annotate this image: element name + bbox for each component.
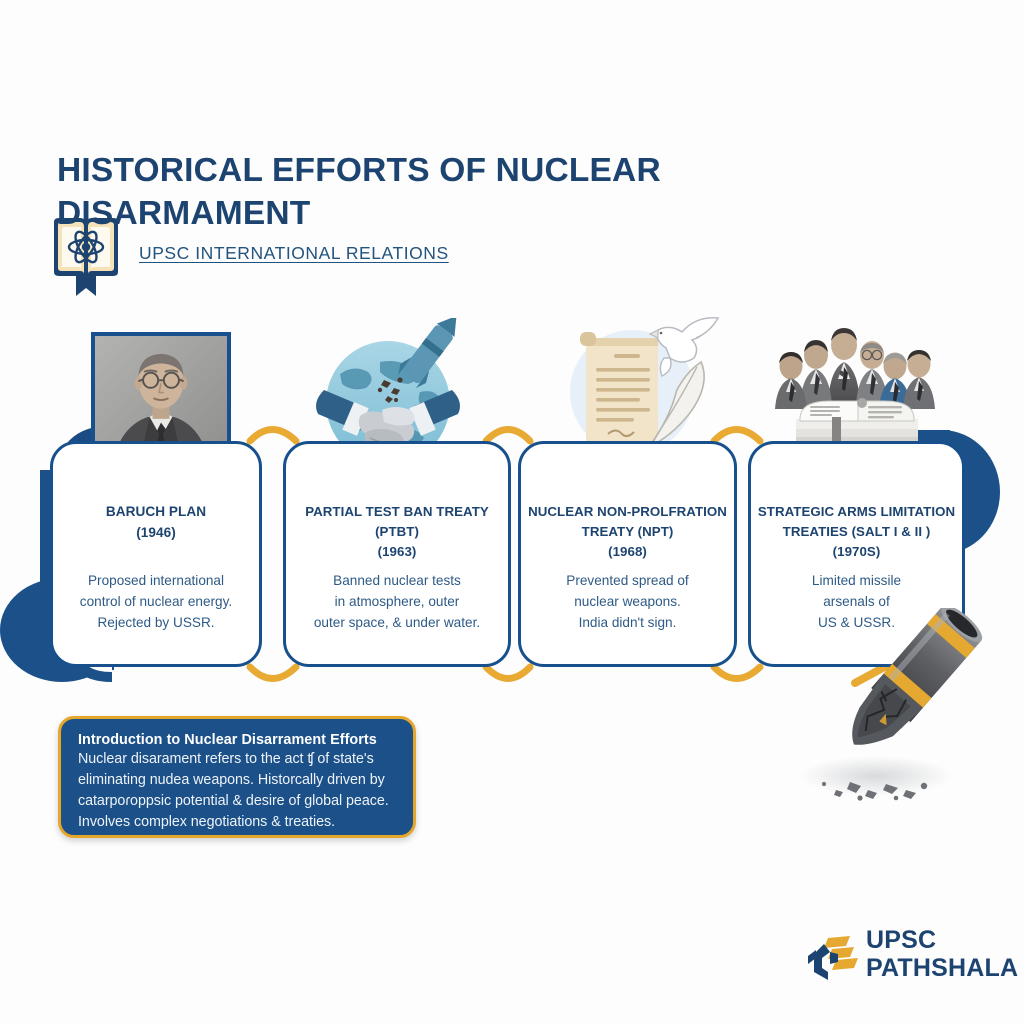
card-description: Banned nuclear tests in atmosphere, oute…	[280, 571, 514, 634]
card-title: PARTIAL TEST BAN TREATY (PTBT) (1963)	[272, 502, 522, 563]
card-title: STRATEGIC ARMS LIMITATION TREATIES (SALT…	[737, 502, 976, 563]
infographic-canvas: HISTORICAL EFFORTS OF NUCLEAR DISARMAMEN…	[0, 0, 1024, 1024]
timeline-card-nuclear-non-proliferation-treaty[interactable]: NUCLEAR NON-PROLFRATION TREATY (NPT) (19…	[518, 441, 737, 667]
card-title: NUCLEAR NON-PROLFRATION TREATY (NPT) (19…	[507, 502, 748, 563]
card-description: Proposed international control of nuclea…	[57, 571, 255, 634]
introduction-info-box: Introduction to Nuclear Disarrament Effo…	[58, 716, 416, 838]
broken-missile-tip-icon	[790, 608, 1020, 818]
info-box-body: Nuclear disarament refers to the act ʧ o…	[78, 749, 397, 832]
card-description: Prevented spread of nuclear weapons. Ind…	[525, 571, 730, 634]
logo-wordmark: UPSC PATHSHALA	[866, 926, 1018, 982]
info-box-title: Introduction to Nuclear Disarrament Effo…	[78, 732, 397, 748]
card-title: BARUCH PLAN (1946)	[39, 502, 273, 543]
upsc-pathshala-logo[interactable]: UPSC PATHSHALA	[806, 928, 984, 990]
timeline-card-baruch-plan[interactable]: BARUCH PLAN (1946) Proposed internationa…	[50, 441, 262, 667]
upsc-pathshala-logo-mark	[806, 932, 862, 984]
timeline-card-partial-test-ban-treaty[interactable]: PARTIAL TEST BAN TREATY (PTBT) (1963) Ba…	[283, 441, 511, 667]
timeline-card-list: BARUCH PLAN (1946) Proposed internationa…	[0, 0, 1024, 1024]
